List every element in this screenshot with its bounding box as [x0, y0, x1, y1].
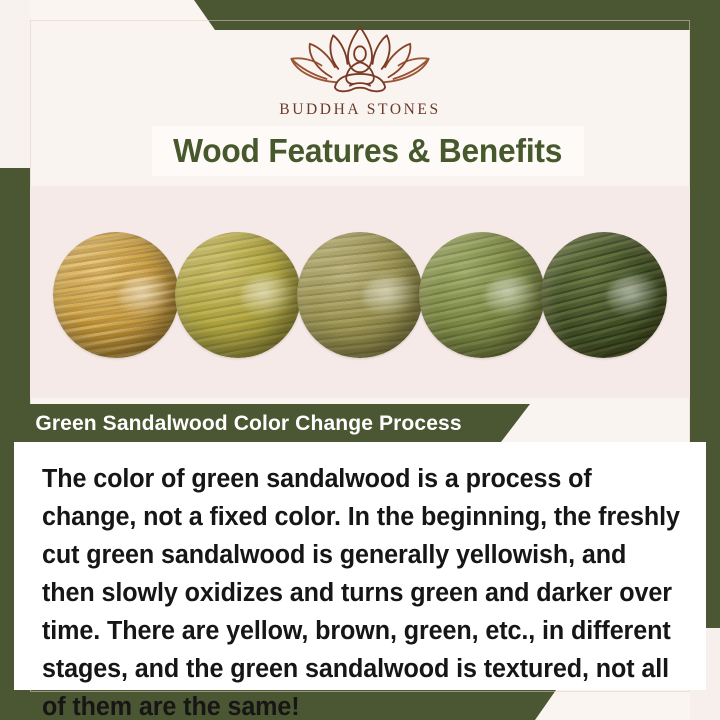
bead-stage-2 — [175, 232, 301, 358]
lotus-meditation-icon — [275, 22, 445, 94]
body-copy-card: The color of green sandalwood is a proce… — [14, 442, 706, 690]
brand-name: BUDDHA STONES — [279, 101, 440, 119]
page-title-banner: Wood Features & Benefits — [152, 126, 584, 176]
poster-canvas: BUDDHA STONES Wood Features & Benefits — [0, 0, 720, 720]
brand-logo-block: BUDDHA STONES — [0, 22, 720, 119]
bead-stage-3 — [297, 232, 423, 358]
bead-stage-5 — [541, 232, 667, 358]
bead-gallery — [30, 232, 690, 358]
page-title: Wood Features & Benefits — [173, 132, 562, 170]
bead-stage-4 — [419, 232, 545, 358]
bead-stage-1 — [53, 232, 179, 358]
body-paragraph: The color of green sandalwood is a proce… — [42, 460, 680, 720]
section-banner: Green Sandalwood Color Change Process — [14, 404, 530, 442]
section-banner-label: Green Sandalwood Color Change Process — [35, 411, 461, 436]
